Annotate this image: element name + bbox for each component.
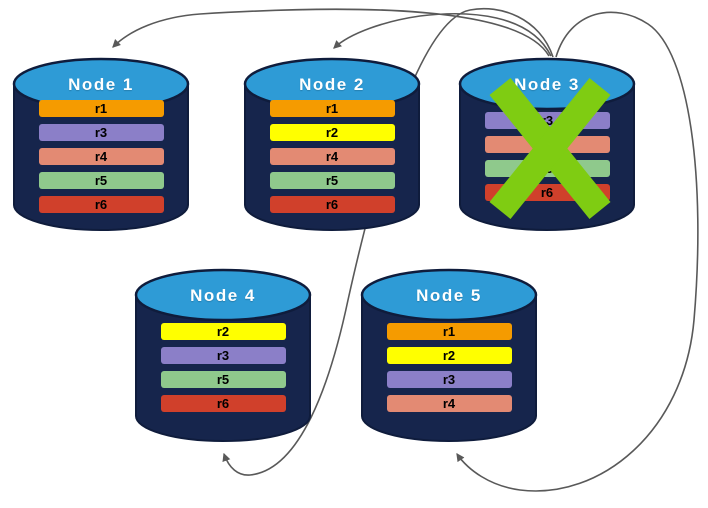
record-bar-r4[interactable]: r4 (387, 395, 512, 412)
record-bar-r6[interactable]: r6 (485, 184, 610, 201)
record-bar-r5[interactable]: r5 (161, 371, 286, 388)
record-bar-r4[interactable]: r4 (270, 148, 395, 165)
record-bar-r4[interactable]: r4 (485, 136, 610, 153)
node-1[interactable]: Node 1r1r3r4r5r6 (12, 57, 190, 232)
record-bar-r4[interactable]: r4 (39, 148, 164, 165)
node-2[interactable]: Node 2r1r2r4r5r6 (243, 57, 421, 232)
record-bar-r6[interactable]: r6 (39, 196, 164, 213)
record-bar-r3[interactable]: r3 (485, 112, 610, 129)
record-bar-r1[interactable]: r1 (39, 100, 164, 117)
record-bar-r3[interactable]: r3 (161, 347, 286, 364)
arrow-node3-to-node2 (334, 14, 551, 56)
node-5-label: Node 5 (360, 286, 538, 306)
node-3-records: r3r4r5r6 (458, 112, 636, 201)
node-4-label: Node 4 (134, 286, 312, 306)
record-bar-r2[interactable]: r2 (270, 124, 395, 141)
record-bar-r5[interactable]: r5 (270, 172, 395, 189)
record-bar-r2[interactable]: r2 (161, 323, 286, 340)
node-3-label: Node 3 (458, 75, 636, 95)
node-2-label: Node 2 (243, 75, 421, 95)
record-bar-r6[interactable]: r6 (161, 395, 286, 412)
record-bar-r5[interactable]: r5 (485, 160, 610, 177)
arrow-node3-to-node1 (113, 9, 549, 56)
node-5-records: r1r2r3r4 (360, 323, 538, 412)
node-4[interactable]: Node 4r2r3r5r6 (134, 268, 312, 443)
record-bar-r3[interactable]: r3 (39, 124, 164, 141)
node-1-records: r1r3r4r5r6 (12, 100, 190, 213)
record-bar-r2[interactable]: r2 (387, 347, 512, 364)
node-3[interactable]: Node 3r3r4r5r6 (458, 57, 636, 232)
node-2-records: r1r2r4r5r6 (243, 100, 421, 213)
record-bar-r3[interactable]: r3 (387, 371, 512, 388)
record-bar-r6[interactable]: r6 (270, 196, 395, 213)
diagram-canvas: Node 1r1r3r4r5r6Node 2r1r2r4r5r6Node 3r3… (0, 0, 708, 508)
node-4-records: r2r3r5r6 (134, 323, 312, 412)
node-1-label: Node 1 (12, 75, 190, 95)
node-5[interactable]: Node 5r1r2r3r4 (360, 268, 538, 443)
record-bar-r1[interactable]: r1 (270, 100, 395, 117)
record-bar-r5[interactable]: r5 (39, 172, 164, 189)
record-bar-r1[interactable]: r1 (387, 323, 512, 340)
